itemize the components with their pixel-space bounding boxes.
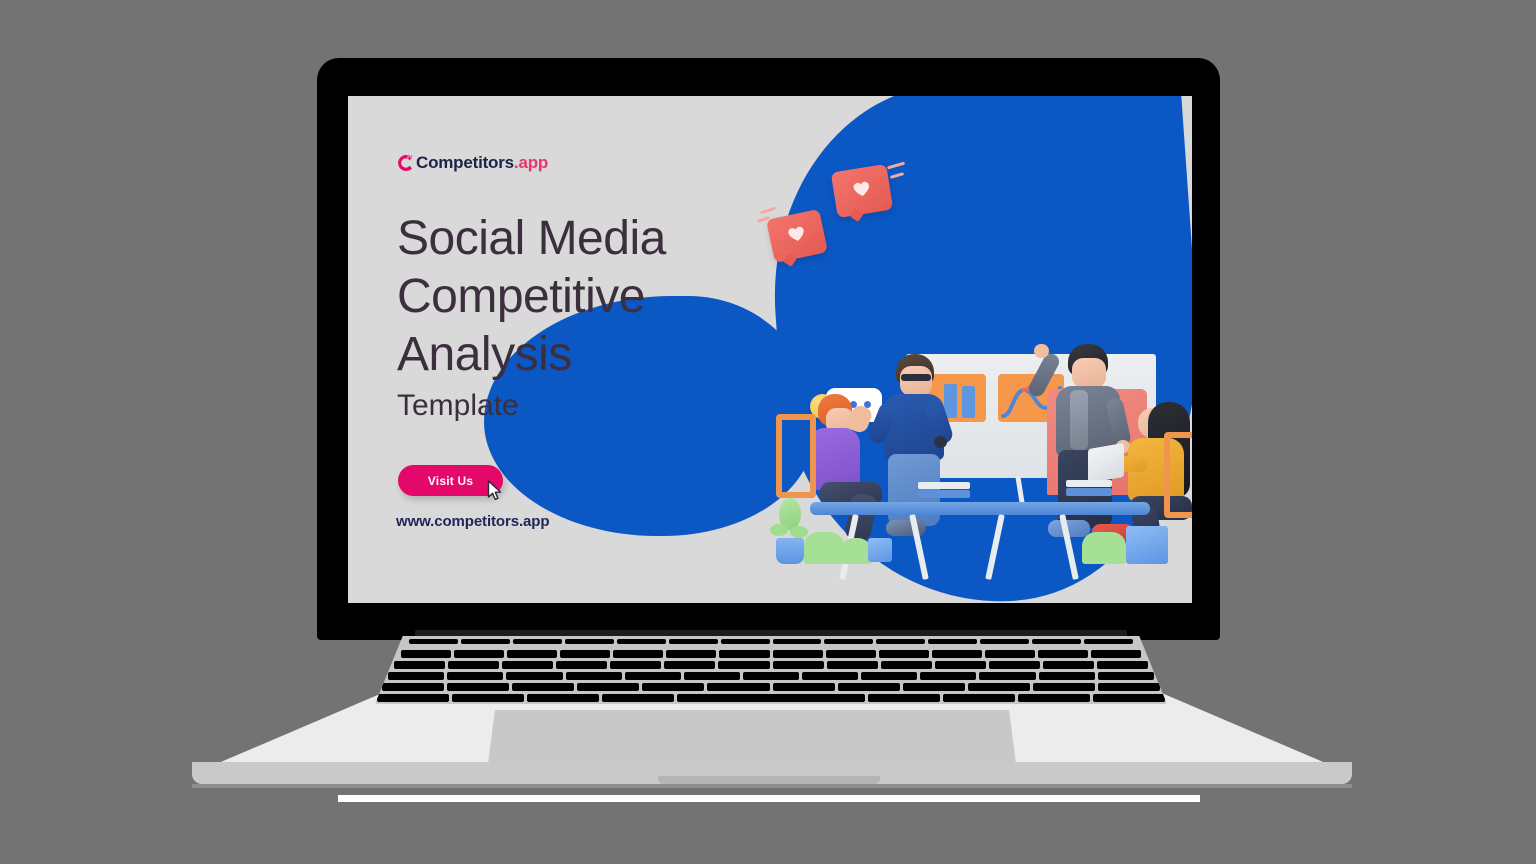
laptop-screen: Competitors .app Social Media Competitiv…: [348, 96, 1192, 603]
blue-block-shape: [1126, 526, 1168, 564]
laptop-base-shadow: [192, 784, 1352, 788]
keyboard-key[interactable]: [827, 661, 878, 669]
keyboard-key[interactable]: [989, 661, 1040, 669]
keyboard-row: [375, 672, 1167, 680]
keyboard-row: [375, 639, 1167, 644]
heart-like-card-icon: [831, 164, 894, 218]
chair-icon: [1164, 432, 1192, 518]
keyboard-key[interactable]: [401, 650, 451, 658]
logo-tld: .app: [514, 153, 548, 173]
keyboard-key[interactable]: [684, 672, 740, 680]
keyboard-key[interactable]: [879, 650, 929, 658]
keyboard-key[interactable]: [669, 639, 718, 644]
keyboard-key[interactable]: [502, 661, 553, 669]
keyboard-key[interactable]: [560, 650, 610, 658]
keyboard-key[interactable]: [677, 694, 864, 702]
bush-shape: [1082, 532, 1126, 564]
keyboard-key[interactable]: [513, 639, 562, 644]
keyboard-key[interactable]: [617, 639, 666, 644]
page-subtitle: Template: [397, 389, 519, 423]
keyboard-key[interactable]: [920, 672, 976, 680]
website-url[interactable]: www.competitors.app: [396, 513, 549, 530]
desk-reflection-line: [338, 795, 1200, 802]
keyboard-key[interactable]: [1018, 694, 1090, 702]
keyboard-key[interactable]: [1043, 661, 1094, 669]
keyboard-key[interactable]: [876, 639, 925, 644]
keyboard-key[interactable]: [721, 639, 770, 644]
keyboard-key[interactable]: [507, 650, 557, 658]
blue-block-shape: [868, 538, 892, 562]
keyboard-key[interactable]: [719, 650, 769, 658]
motion-line: [760, 207, 776, 215]
keyboard-key[interactable]: [932, 650, 982, 658]
brand-logo[interactable]: Competitors .app: [396, 153, 548, 173]
keyboard-key[interactable]: [388, 672, 444, 680]
keyboard-key[interactable]: [610, 661, 661, 669]
keyboard-key[interactable]: [448, 661, 499, 669]
keyboard-row: [375, 683, 1167, 691]
keyboard-key[interactable]: [868, 694, 940, 702]
keyboard-key[interactable]: [935, 661, 986, 669]
keyboard-key[interactable]: [1033, 683, 1095, 691]
keyboard-key[interactable]: [1098, 672, 1154, 680]
keyboard-key[interactable]: [566, 672, 622, 680]
keyboard-key[interactable]: [928, 639, 977, 644]
keyboard-key[interactable]: [968, 683, 1030, 691]
keyboard-key[interactable]: [861, 672, 917, 680]
keyboard-key[interactable]: [903, 683, 965, 691]
keyboard-key[interactable]: [447, 683, 509, 691]
keyboard-key[interactable]: [454, 650, 504, 658]
keyboard-key[interactable]: [743, 672, 799, 680]
keyboard-key[interactable]: [512, 683, 574, 691]
keyboard-key[interactable]: [452, 694, 524, 702]
meeting-table: [810, 502, 1150, 515]
keyboard-key[interactable]: [773, 661, 824, 669]
keyboard-key[interactable]: [773, 683, 835, 691]
keyboard-key[interactable]: [625, 672, 681, 680]
keyboard-row: [375, 650, 1167, 658]
keyboard-key[interactable]: [1038, 650, 1088, 658]
keyboard-key[interactable]: [642, 683, 704, 691]
keyboard-key[interactable]: [1039, 672, 1095, 680]
keyboard-key[interactable]: [943, 694, 1015, 702]
team-analytics-illustration: $ $ $: [766, 146, 1192, 601]
keyboard-key[interactable]: [824, 639, 873, 644]
page-title: Social Media Competitive Analysis: [397, 210, 777, 384]
keyboard-row: [375, 661, 1167, 669]
keyboard-key[interactable]: [773, 639, 822, 644]
keyboard-key[interactable]: [527, 694, 599, 702]
keyboard-key[interactable]: [979, 672, 1035, 680]
motion-line: [890, 172, 904, 179]
keyboard-key[interactable]: [556, 661, 607, 669]
keyboard-key[interactable]: [447, 672, 503, 680]
keyboard-key[interactable]: [1084, 639, 1133, 644]
laptop-keyboard[interactable]: [375, 636, 1167, 704]
keyboard-key[interactable]: [802, 672, 858, 680]
person-figure-icon: [870, 354, 966, 544]
keyboard-key[interactable]: [718, 661, 769, 669]
logo-name: Competitors: [416, 153, 514, 173]
keyboard-key[interactable]: [985, 650, 1035, 658]
bush-shape: [804, 532, 844, 564]
keyboard-key[interactable]: [707, 683, 769, 691]
keyboard-key[interactable]: [881, 661, 932, 669]
keyboard-key[interactable]: [577, 683, 639, 691]
keyboard-key[interactable]: [980, 639, 1029, 644]
chair-icon: [776, 414, 816, 498]
keyboard-key[interactable]: [666, 650, 716, 658]
keyboard-key[interactable]: [773, 650, 823, 658]
heart-like-card-icon: [766, 209, 828, 263]
keyboard-key[interactable]: [461, 639, 510, 644]
keyboard-key[interactable]: [382, 683, 444, 691]
keyboard-key[interactable]: [394, 661, 445, 669]
keyboard-key[interactable]: [1097, 661, 1148, 669]
keyboard-key[interactable]: [1093, 694, 1165, 702]
keyboard-row: [375, 694, 1167, 702]
heart-glyph-icon: [787, 225, 807, 243]
keyboard-key[interactable]: [826, 650, 876, 658]
keyboard-key[interactable]: [1032, 639, 1081, 644]
keyboard-key[interactable]: [506, 672, 562, 680]
laptop-base-notch: [658, 776, 880, 784]
mouse-pointer-icon: [487, 480, 503, 502]
keyboard-key[interactable]: [1091, 650, 1141, 658]
keyboard-key[interactable]: [1098, 683, 1160, 691]
visit-us-button-label: Visit Us: [428, 474, 473, 488]
keyboard-key[interactable]: [602, 694, 674, 702]
laptop-mockup: Competitors .app Social Media Competitiv…: [0, 0, 1536, 864]
keyboard-key[interactable]: [838, 683, 900, 691]
motion-line: [887, 162, 905, 170]
keyboard-key[interactable]: [613, 650, 663, 658]
keyboard-key[interactable]: [565, 639, 614, 644]
keyboard-key[interactable]: [377, 694, 449, 702]
heart-glyph-icon: [852, 180, 871, 197]
keyboard-key[interactable]: [409, 639, 458, 644]
competitors-c-mark-icon: [396, 153, 415, 173]
keyboard-key[interactable]: [664, 661, 715, 669]
